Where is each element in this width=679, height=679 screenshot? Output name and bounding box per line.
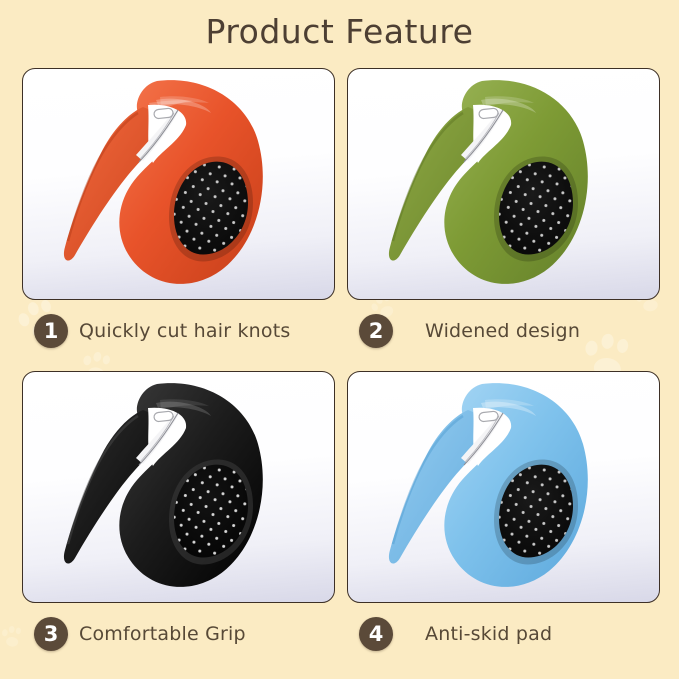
feature-cell-3: 3 Comfortable Grip xyxy=(22,371,337,657)
feature-caption-1: 1 Quickly cut hair knots xyxy=(22,314,337,354)
feature-caption-4: 4 Anti-skid pad xyxy=(347,617,662,657)
feature-label-4: Anti-skid pad xyxy=(425,619,552,649)
feature-label-3: Comfortable Grip xyxy=(79,619,246,649)
product-image-card-1[interactable] xyxy=(22,68,335,300)
feature-label-2: Widened design xyxy=(425,316,580,346)
feature-cell-2: 2 Widened design xyxy=(347,68,662,354)
feature-number-badge-1: 1 xyxy=(34,314,68,348)
product-image-card-2[interactable] xyxy=(347,68,660,300)
product-illustration-orange xyxy=(23,69,335,300)
feature-caption-3: 3 Comfortable Grip xyxy=(22,617,337,657)
product-image-card-3[interactable] xyxy=(22,371,335,603)
product-illustration-green xyxy=(348,69,660,300)
product-illustration-black xyxy=(23,372,335,603)
feature-label-1: Quickly cut hair knots xyxy=(79,316,291,346)
infographic-page: Product Feature xyxy=(0,0,679,679)
feature-caption-2: 2 Widened design xyxy=(347,314,662,354)
feature-number-badge-2: 2 xyxy=(359,314,393,348)
feature-cell-1: 1 Quickly cut hair knots xyxy=(22,68,337,354)
product-illustration-blue xyxy=(348,372,660,603)
feature-number-badge-4: 4 xyxy=(359,617,393,651)
feature-number-badge-3: 3 xyxy=(34,617,68,651)
page-title: Product Feature xyxy=(0,12,679,51)
product-image-card-4[interactable] xyxy=(347,371,660,603)
feature-cell-4: 4 Anti-skid pad xyxy=(347,371,662,657)
